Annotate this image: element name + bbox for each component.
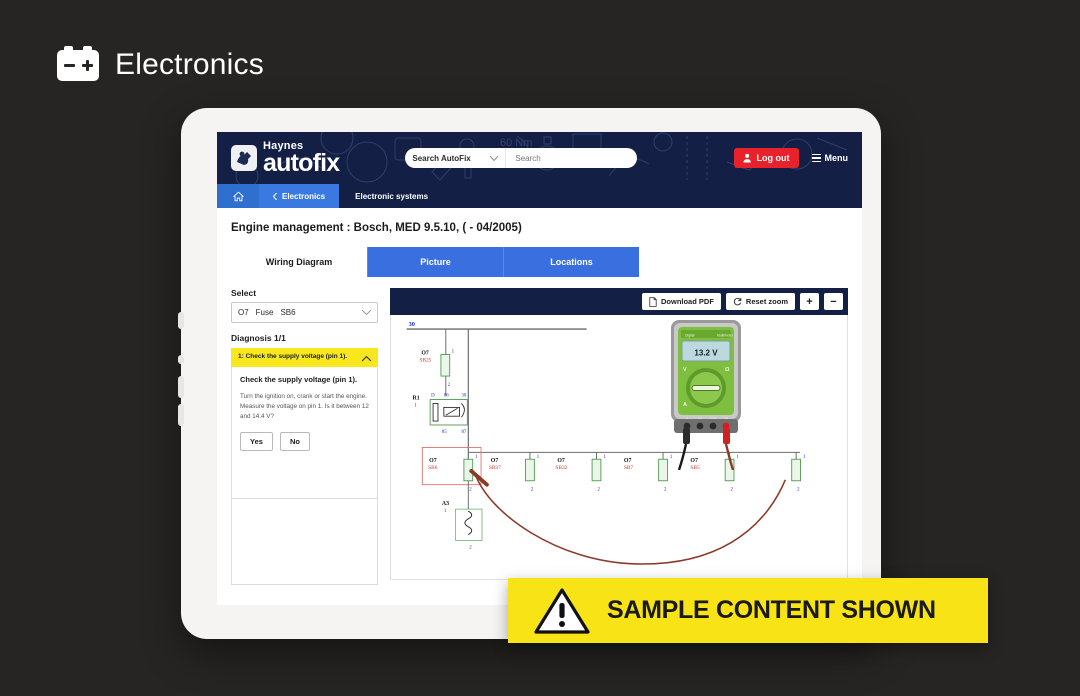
user-icon <box>743 153 753 163</box>
tablet-button-volume-up[interactable] <box>178 376 184 398</box>
wiring-diagram-canvas[interactable]: 30 O7 SB25 1 2 <box>390 315 848 580</box>
diagnosis-step-title: Check the supply voltage (pin 1). <box>240 375 369 386</box>
tablet-device: 60 Nm Haynes autofix Search AutoFix <box>181 108 881 639</box>
diagnosis-panel: Select O7 Fuse SB6 Diagnosis 1/1 1 <box>231 288 378 585</box>
svg-text:O7: O7 <box>557 458 565 464</box>
svg-text:86: 86 <box>444 394 449 399</box>
document-icon <box>649 297 657 307</box>
fuse-item: O7 SB37 1 2 <box>489 452 540 492</box>
svg-text:Digital: Digital <box>685 333 695 337</box>
svg-text:2: 2 <box>731 488 734 493</box>
svg-text:2: 2 <box>448 383 451 388</box>
svg-text:SB32: SB32 <box>555 465 567 471</box>
warning-triangle-icon <box>534 587 590 635</box>
svg-text:1: 1 <box>452 350 455 355</box>
fuse-top-name: O7 <box>421 351 429 357</box>
select-value-type: Fuse <box>256 308 274 317</box>
breadcrumb-current: Electronic systems <box>339 184 444 208</box>
svg-text:2: 2 <box>664 488 667 493</box>
hamburger-icon <box>812 154 821 162</box>
tab-locations[interactable]: Locations <box>503 247 639 277</box>
brand-title: Electronics <box>115 48 264 82</box>
tab-bar: Wiring Diagram Picture Locations <box>231 247 848 277</box>
select-value-code: SB6 <box>280 308 295 317</box>
svg-text:SB7: SB7 <box>624 465 634 471</box>
fuse-top-code: SB25 <box>419 357 431 363</box>
mechanic-icon <box>235 150 254 166</box>
content-body: Select O7 Fuse SB6 Diagnosis 1/1 1 <box>231 288 848 585</box>
tablet-button-power[interactable] <box>178 312 184 329</box>
chevron-down-icon <box>362 310 371 315</box>
svg-text:2: 2 <box>597 488 600 493</box>
svg-text:1: 1 <box>444 509 447 514</box>
svg-text:COM: COM <box>709 416 717 420</box>
menu-button[interactable]: Menu <box>812 153 849 163</box>
search-scope-label: Search AutoFix <box>412 154 470 163</box>
reset-zoom-label: Reset zoom <box>746 297 788 306</box>
menu-label: Menu <box>825 153 849 163</box>
breadcrumb-back-electronics[interactable]: Electronics <box>259 184 339 208</box>
svg-text:2: 2 <box>797 488 800 493</box>
svg-text:O7: O7 <box>429 458 437 464</box>
svg-text:85: 85 <box>442 430 447 435</box>
chevron-up-icon <box>362 356 371 362</box>
chevron-left-icon <box>273 193 277 200</box>
brand-header: Electronics <box>57 48 264 82</box>
logout-label: Log out <box>757 153 790 163</box>
svg-text:1: 1 <box>537 455 540 460</box>
breadcrumb-home-button[interactable] <box>217 184 259 208</box>
download-pdf-button[interactable]: Download PDF <box>642 293 721 310</box>
search-scope-select[interactable]: Search AutoFix <box>405 148 506 168</box>
reset-zoom-button[interactable]: Reset zoom <box>726 293 795 310</box>
svg-text:Multimeter: Multimeter <box>717 333 734 337</box>
diagnosis-step-header-label: 1: Check the supply voltage (pin 1). <box>238 353 347 362</box>
chevron-down-icon <box>490 156 498 161</box>
svg-text:mA: mA <box>697 416 702 420</box>
fuse-item: O7 SB32 1 2 <box>555 452 606 492</box>
app-logo[interactable]: Haynes autofix <box>231 142 339 174</box>
logo-autofix-text: autofix <box>263 152 339 174</box>
search-bar[interactable]: Search AutoFix <box>405 148 637 168</box>
app-navbar: 60 Nm Haynes autofix Search AutoFix <box>217 132 862 184</box>
black-test-lead <box>679 444 686 470</box>
svg-text:1: 1 <box>414 403 417 408</box>
wiring-diagram-svg: 30 O7 SB25 1 2 <box>391 315 847 579</box>
svg-text:Ω: Ω <box>725 367 730 373</box>
svg-text:1: 1 <box>603 455 606 460</box>
refresh-icon <box>733 297 742 306</box>
bus-label-30: 30 <box>409 321 415 328</box>
battery-icon <box>57 50 99 81</box>
fuse-item: O7 SB6 1 2 <box>428 455 478 492</box>
coil-name: A3 <box>442 501 449 507</box>
svg-text:87: 87 <box>461 430 466 435</box>
svg-text:SB37: SB37 <box>489 465 501 471</box>
navbar-actions: Log out Menu <box>734 148 849 168</box>
zoom-in-button[interactable]: + <box>800 293 819 310</box>
diagnosis-count-label: Diagnosis 1/1 <box>231 333 378 343</box>
svg-text:O7: O7 <box>624 458 632 464</box>
tablet-screen: 60 Nm Haynes autofix Search AutoFix <box>217 132 862 605</box>
tab-picture[interactable]: Picture <box>367 247 503 277</box>
svg-text:O7: O7 <box>491 458 499 464</box>
svg-text:2: 2 <box>469 545 472 550</box>
svg-text:30: 30 <box>461 394 466 399</box>
svg-text:A: A <box>683 402 687 408</box>
multimeter: Digital Multimeter 13.2 V V Ω A <box>665 318 748 470</box>
page-title: Engine management : Bosch, MED 9.5.10, (… <box>231 222 848 234</box>
diagnosis-panel-filler <box>231 499 378 585</box>
logout-button[interactable]: Log out <box>734 148 799 168</box>
diagnosis-step-header[interactable]: 1: Check the supply voltage (pin 1). <box>231 348 378 367</box>
red-probe-plug <box>723 428 730 444</box>
select-value-component: O7 <box>238 308 249 317</box>
page-content: Engine management : Bosch, MED 9.5.10, (… <box>217 208 862 605</box>
tab-wiring-diagram[interactable]: Wiring Diagram <box>231 247 367 277</box>
red-test-lead <box>475 474 785 564</box>
home-icon <box>233 191 244 202</box>
breadcrumb-back-label: Electronics <box>282 192 325 201</box>
haynes-logo-mark-icon <box>231 145 257 171</box>
svg-text:A: A <box>686 416 688 420</box>
fuse-row: O7 SB6 1 2 O7 SB37 <box>428 452 806 492</box>
svg-text:1: 1 <box>475 455 478 460</box>
answer-yes-button[interactable]: Yes <box>240 432 273 451</box>
answer-buttons: Yes No <box>240 432 369 451</box>
svg-text:V: V <box>683 367 687 373</box>
diagnosis-step-text: Turn the ignition on, crank or start the… <box>240 392 369 423</box>
svg-text:SB6: SB6 <box>428 465 438 471</box>
download-pdf-label: Download PDF <box>661 297 714 306</box>
diagram-viewer: Download PDF Reset zoom + − <box>390 288 848 585</box>
svg-text:1: 1 <box>803 455 806 460</box>
tablet-button-volume-down[interactable] <box>178 404 184 426</box>
black-probe-plug <box>683 428 690 444</box>
sample-content-banner: SAMPLE CONTENT SHOWN <box>508 578 988 643</box>
search-input[interactable] <box>506 154 637 163</box>
viewer-toolbar: Download PDF Reset zoom + − <box>390 288 848 315</box>
sample-content-label: SAMPLE CONTENT SHOWN <box>607 596 936 625</box>
svg-text:D: D <box>431 394 435 399</box>
diagnosis-step-body: Check the supply voltage (pin 1). Turn t… <box>231 367 378 499</box>
tablet-button-small[interactable] <box>178 355 184 364</box>
component-select[interactable]: O7 Fuse SB6 <box>231 302 378 323</box>
relay-name: R1 <box>413 396 420 402</box>
svg-text:2: 2 <box>469 488 472 493</box>
answer-no-button[interactable]: No <box>280 432 310 451</box>
select-label: Select <box>231 288 378 298</box>
svg-text:2: 2 <box>531 488 534 493</box>
zoom-out-button[interactable]: − <box>824 293 843 310</box>
multimeter-reading: 13.2 V <box>694 348 718 357</box>
breadcrumb: Electronics Electronic systems <box>217 184 862 208</box>
